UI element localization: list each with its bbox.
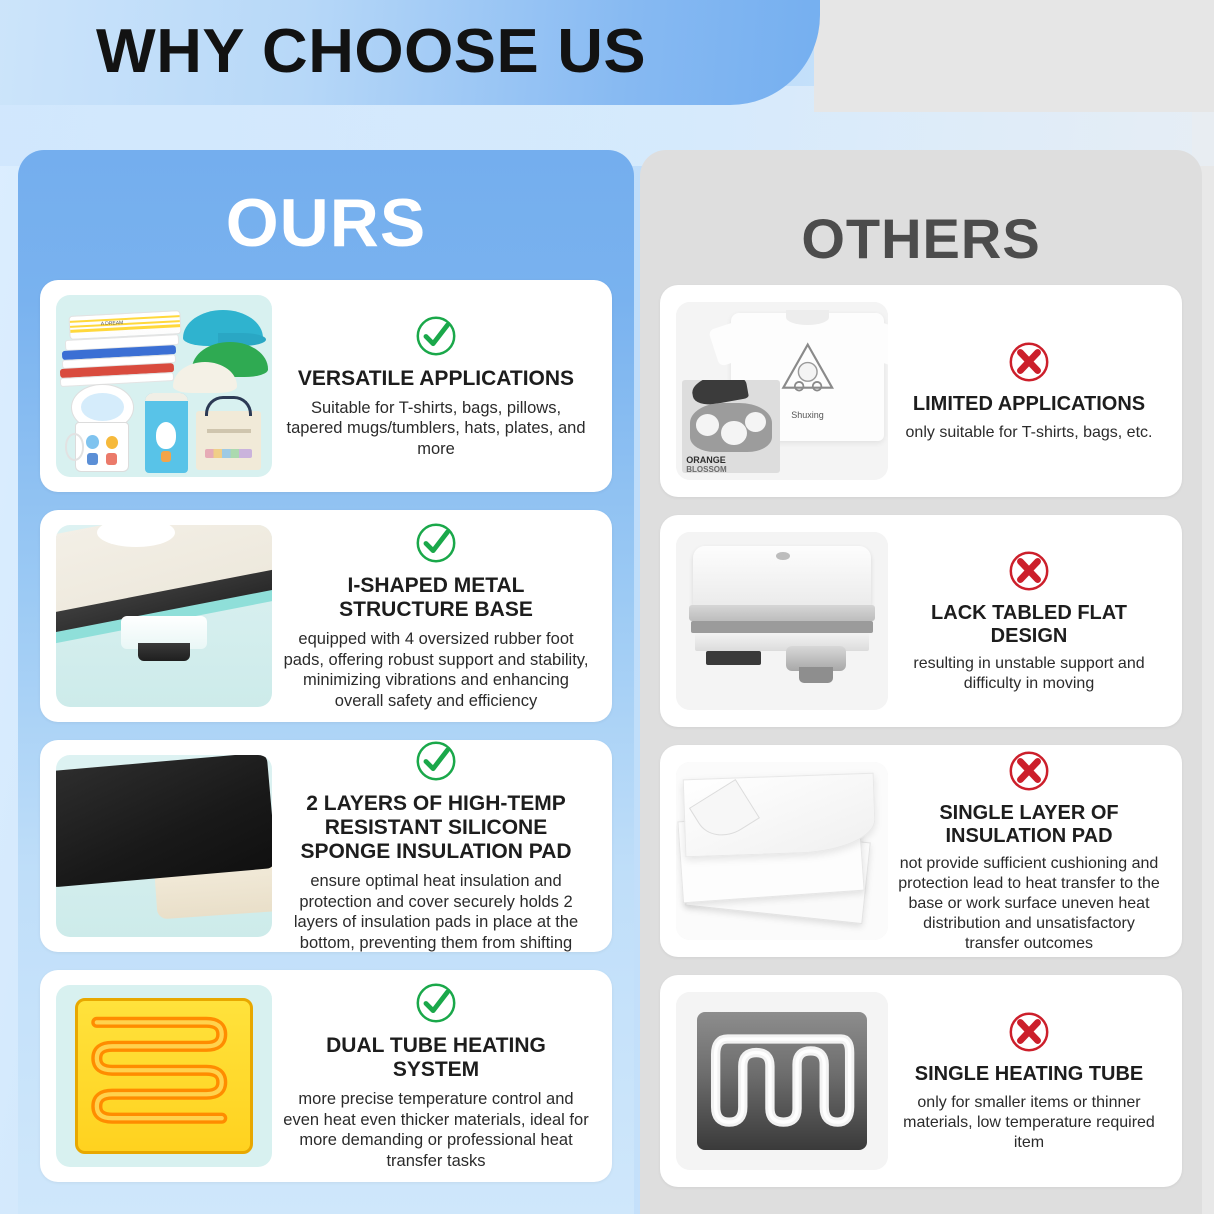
tote-print-label-top: ORANGE: [686, 455, 726, 465]
ours-card-dual-tube-heating[interactable]: DUAL TUBE HEATING SYSTEM more precise te…: [40, 970, 612, 1182]
metal-base-foot-pad-photo: [56, 525, 272, 707]
card-body: LACK TABLED FLAT DESIGN resulting in uns…: [888, 548, 1166, 695]
x-circle-icon: [1006, 1009, 1052, 1055]
others-column: OTHERS Shuxing: [640, 150, 1202, 1214]
check-circle-icon: [413, 738, 459, 784]
single-insulation-sheet-photo: [676, 762, 888, 940]
card-description: only for smaller items or thinner materi…: [898, 1093, 1160, 1153]
card-body: LIMITED APPLICATIONS only suitable for T…: [888, 339, 1166, 443]
card-title: SINGLE LAYER OF INSULATION PAD: [898, 802, 1160, 848]
header-banner: WHY CHOOSE US: [0, 0, 820, 105]
comparison-columns: OURS A DREAM: [0, 150, 1214, 1214]
ours-card-metal-structure-base[interactable]: I-SHAPED METAL STRUCTURE BASE equipped w…: [40, 510, 612, 722]
card-description: ensure optimal heat insulation and prote…: [282, 871, 590, 954]
single-heating-tube-photo: [676, 992, 888, 1170]
x-circle-icon: [1006, 339, 1052, 385]
others-card-single-heating-tube[interactable]: SINGLE HEATING TUBE only for smaller ite…: [660, 975, 1182, 1187]
card-description: resulting in unstable support and diffic…: [898, 654, 1160, 694]
card-title: LIMITED APPLICATIONS: [913, 393, 1145, 416]
card-body: DUAL TUBE HEATING SYSTEM more precise te…: [272, 980, 596, 1171]
others-card-limited-applications[interactable]: Shuxing ORANGE BLOSSOM: [660, 285, 1182, 497]
dual-heating-tube-photo: [56, 985, 272, 1167]
card-body: SINGLE LAYER OF INSULATION PAD not provi…: [888, 748, 1166, 955]
card-title: I-SHAPED METAL STRUCTURE BASE: [282, 574, 590, 622]
x-circle-icon: [1006, 748, 1052, 794]
ours-card-silicone-insulation-pad[interactable]: 2 LAYERS OF HIGH-TEMP RESISTANT SILICONE…: [40, 740, 612, 952]
card-body: VERSATILE APPLICATIONS Suitable for T-sh…: [272, 313, 596, 460]
card-body: SINGLE HEATING TUBE only for smaller ite…: [888, 1009, 1166, 1153]
check-circle-icon: [413, 980, 459, 1026]
card-title: 2 LAYERS OF HIGH-TEMP RESISTANT SILICONE…: [282, 792, 590, 864]
ours-column-title: OURS: [40, 150, 612, 280]
printed-products-photo: A DREAM: [56, 295, 272, 477]
ours-column: OURS A DREAM: [18, 150, 634, 1214]
others-card-single-layer-pad[interactable]: SINGLE LAYER OF INSULATION PAD not provi…: [660, 745, 1182, 957]
card-description: only suitable for T-shirts, bags, etc.: [906, 423, 1153, 443]
card-description: Suitable for T-shirts, bags, pillows, ta…: [282, 398, 590, 460]
white-tshirt-tote-photo: Shuxing ORANGE BLOSSOM: [676, 302, 888, 480]
tote-print-label-bottom: BLOSSOM: [686, 465, 726, 473]
check-circle-icon: [413, 520, 459, 566]
card-title: LACK TABLED FLAT DESIGN: [898, 602, 1160, 648]
card-title: SINGLE HEATING TUBE: [915, 1063, 1144, 1086]
page-title: WHY CHOOSE US: [0, 16, 646, 105]
background-gray-top-right: [814, 0, 1214, 112]
ours-card-versatile-applications[interactable]: A DREAM: [40, 280, 612, 492]
card-title: VERSATILE APPLICATIONS: [298, 367, 574, 391]
card-body: 2 LAYERS OF HIGH-TEMP RESISTANT SILICONE…: [272, 738, 596, 953]
silicone-sponge-pads-photo: [56, 755, 272, 937]
check-circle-icon: [413, 313, 459, 359]
card-description: not provide sufficient cushioning and pr…: [898, 854, 1160, 954]
others-column-title: OTHERS: [660, 150, 1182, 285]
card-title: DUAL TUBE HEATING SYSTEM: [282, 1034, 590, 1082]
x-circle-icon: [1006, 548, 1052, 594]
others-card-lack-flat-design[interactable]: LACK TABLED FLAT DESIGN resulting in uns…: [660, 515, 1182, 727]
card-description: more precise temperature control and eve…: [282, 1089, 590, 1172]
card-description: equipped with 4 oversized rubber foot pa…: [282, 629, 590, 712]
card-body: I-SHAPED METAL STRUCTURE BASE equipped w…: [272, 520, 596, 711]
flat-base-photo: [676, 532, 888, 710]
